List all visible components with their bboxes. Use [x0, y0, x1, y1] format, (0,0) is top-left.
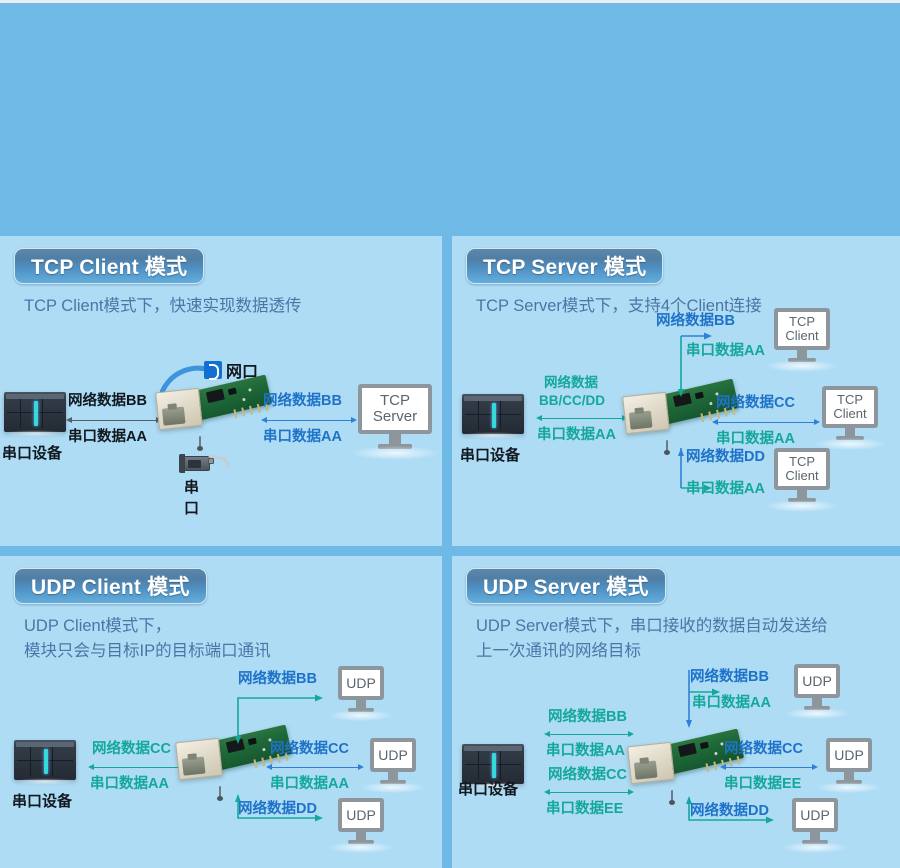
- left-link-top-label: 网络数据CC: [92, 742, 171, 757]
- monitor-neck: [388, 772, 398, 780]
- branch-3-net-label: 网络数据DD: [238, 802, 317, 817]
- endpoint-monitor-tcp-server: TCP Server: [358, 384, 432, 434]
- endpoint-line1: UDP: [378, 748, 408, 763]
- endpoint-line1: UDP: [834, 748, 864, 763]
- plc-shadow: [460, 432, 526, 439]
- left-link-arrow: [536, 414, 628, 423]
- left-link-1-arrow: [544, 730, 634, 739]
- network-port-icon: [204, 361, 222, 379]
- panel-tcp-server: TCP Server 模式 TCP Server模式下，支持4个Client连接…: [452, 236, 900, 546]
- branch-2-net-label: 网络数据CC: [716, 396, 795, 411]
- monitor-neck: [810, 832, 820, 840]
- left-link-2-top-label: 网络数据CC: [548, 768, 627, 783]
- monitor-neck: [356, 832, 366, 840]
- branch-2-net-label: 网络数据CC: [724, 742, 803, 757]
- branch-2-arrow: [712, 418, 820, 427]
- left-link-1-top-label: 网络数据BB: [548, 710, 627, 725]
- branch-2-net-label: 网络数据CC: [270, 742, 349, 757]
- db9-connector-icon: [184, 456, 210, 471]
- serial-device-label: 串口设备: [2, 442, 62, 463]
- branch-3-net-label: 网络数据DD: [690, 804, 769, 819]
- monitor-shadow: [329, 710, 393, 721]
- branch-3-endpoint-monitor: UDP: [338, 798, 384, 832]
- monitor-shadow: [785, 708, 849, 719]
- monitor-shadow: [783, 842, 847, 853]
- endpoint-line1: TCP: [837, 392, 863, 407]
- diagram-udp-server: 串口设备 网络数据BB 串口数据AA 网络数据CC 串口数据EE: [452, 556, 900, 868]
- endpoint-line2: Client: [833, 406, 866, 421]
- monitor-neck: [389, 434, 401, 444]
- left-link-1-bottom-label: 串口数据AA: [546, 744, 625, 759]
- endpoint-line2: Client: [785, 468, 818, 483]
- right-link-bottom-label: 串口数据AA: [263, 430, 342, 445]
- monitor-neck: [797, 490, 807, 498]
- endpoint-line1: TCP: [789, 454, 815, 469]
- monitor-shadow: [766, 500, 838, 512]
- monitor-shadow: [817, 782, 881, 793]
- plc-shadow: [2, 430, 68, 437]
- branch-1-net-label: 网络数据BB: [690, 670, 769, 685]
- branch-2-ser-label: 串口数据AA: [270, 777, 349, 792]
- monitor-screen: TCP Client: [822, 386, 878, 428]
- serial-port-label: 串口: [184, 476, 199, 518]
- rj45-connector: [155, 388, 203, 430]
- panel-udp-client: UDP Client 模式 UDP Client模式下， 模块只会与目标IP的目…: [0, 556, 442, 868]
- monitor-screen: TCP Client: [774, 308, 830, 350]
- right-link-arrow: [261, 416, 357, 425]
- left-link-top-label-2: BB/CC/DD: [539, 394, 605, 408]
- monitor-screen: TCP Server: [358, 384, 432, 434]
- endpoint-line1: UDP: [800, 808, 830, 823]
- diagram-udp-client: 串口设备 网络数据CC 串口数据AA: [0, 556, 442, 868]
- serial-device-plc: [4, 392, 66, 432]
- serial-device-label: 串口设备: [12, 790, 72, 811]
- endpoint-line1: UDP: [346, 808, 376, 823]
- left-link-arrow: [66, 416, 162, 425]
- serial-server-module: [155, 378, 275, 448]
- branch-1-net-label: 网络数据BB: [656, 314, 735, 329]
- branch-1-endpoint-monitor: UDP: [338, 666, 384, 700]
- monitor-neck: [845, 428, 855, 436]
- endpoint-line1: TCP: [380, 392, 410, 409]
- db9-cable: [207, 455, 230, 468]
- branch-3-endpoint-monitor: TCP Client: [774, 448, 830, 490]
- left-link-bottom-label: 串口数据AA: [68, 430, 147, 445]
- endpoint-line1: UDP: [802, 674, 832, 689]
- monitor-shadow: [352, 446, 438, 460]
- branch-2-endpoint-monitor: UDP: [370, 738, 416, 772]
- serial-device-label: 串口设备: [458, 778, 518, 799]
- module-antenna-pin: [671, 790, 673, 802]
- diagram-tcp-client: 网口 串口设备 网络数据BB 串口数据AA: [0, 236, 442, 546]
- mode-panel-grid: TCP Client 模式 TCP Client模式下，快速实现数据透传 网口: [0, 236, 900, 868]
- branch-2-endpoint-monitor: UDP: [826, 738, 872, 772]
- module-antenna-pin: [666, 440, 668, 452]
- monitor-screen: UDP: [826, 738, 872, 772]
- top-hairline: [0, 0, 900, 3]
- endpoint-line2: Client: [785, 328, 818, 343]
- panel-tcp-client: TCP Client 模式 TCP Client模式下，快速实现数据透传 网口: [0, 236, 442, 546]
- serial-device-plc: [462, 394, 524, 434]
- branch-3-net-label: 网络数据DD: [686, 450, 765, 465]
- left-link-top-label-1: 网络数据: [544, 376, 598, 390]
- branch-1-net-label: 网络数据BB: [238, 672, 317, 687]
- monitor-neck: [797, 350, 807, 358]
- rj45-connector: [622, 392, 670, 434]
- branch-1-endpoint-monitor: UDP: [794, 664, 840, 698]
- rj45-connector: [175, 738, 223, 780]
- branch-1-endpoint-monitor: TCP Client: [774, 308, 830, 350]
- endpoint-line1: TCP: [789, 314, 815, 329]
- diagram-tcp-server: 串口设备 网络数据 BB/CC/DD 串口数据AA: [452, 236, 900, 546]
- monitor-neck: [356, 700, 366, 708]
- monitor-shadow: [329, 842, 393, 853]
- left-link-2-arrow: [544, 788, 634, 797]
- left-link-top-label: 网络数据BB: [68, 394, 147, 409]
- left-link-bottom-label: 串口数据AA: [537, 428, 616, 443]
- branch-2-arrow: [266, 763, 364, 772]
- branch-2-arrow: [720, 763, 818, 772]
- rj45-connector: [627, 742, 675, 784]
- branch-2-ser-label: 串口数据EE: [724, 777, 801, 792]
- module-antenna-pin: [219, 786, 221, 798]
- monitor-neck: [844, 772, 854, 780]
- top-banner-area: [0, 0, 900, 236]
- plc-shadow: [12, 778, 78, 785]
- monitor-neck: [812, 698, 822, 706]
- page-root: TCP Client 模式 TCP Client模式下，快速实现数据透传 网口: [0, 0, 900, 868]
- monitor-screen: UDP: [792, 798, 838, 832]
- monitor-screen: UDP: [370, 738, 416, 772]
- branch-3-endpoint-monitor: UDP: [792, 798, 838, 832]
- branch-1-arrow: [235, 689, 327, 745]
- left-link-arrow: [88, 763, 184, 772]
- endpoint-line2: Server: [373, 408, 417, 425]
- right-link-top-label: 网络数据BB: [263, 394, 342, 409]
- endpoint-line1: UDP: [346, 676, 376, 691]
- monitor-screen: TCP Client: [774, 448, 830, 490]
- monitor-shadow: [361, 782, 425, 793]
- left-link-2-bottom-label: 串口数据EE: [546, 802, 623, 817]
- branch-2-endpoint-monitor: TCP Client: [822, 386, 878, 428]
- monitor-screen: UDP: [794, 664, 840, 698]
- branch-2-ser-label: 串口数据AA: [716, 432, 795, 447]
- serial-device-label: 串口设备: [460, 444, 520, 465]
- panel-udp-server: UDP Server 模式 UDP Server模式下，串口接收的数据自动发送给…: [452, 556, 900, 868]
- monitor-screen: UDP: [338, 666, 384, 700]
- left-link-bottom-label: 串口数据AA: [90, 777, 169, 792]
- monitor-screen: UDP: [338, 798, 384, 832]
- branch-1-ser-label: 串口数据AA: [692, 696, 771, 711]
- branch-1-ser-label: 串口数据AA: [686, 344, 765, 359]
- module-antenna-pin: [199, 436, 201, 448]
- serial-device-plc: [14, 740, 76, 780]
- monitor-shadow: [766, 360, 838, 372]
- branch-3-ser-label: 串口数据AA: [686, 482, 765, 497]
